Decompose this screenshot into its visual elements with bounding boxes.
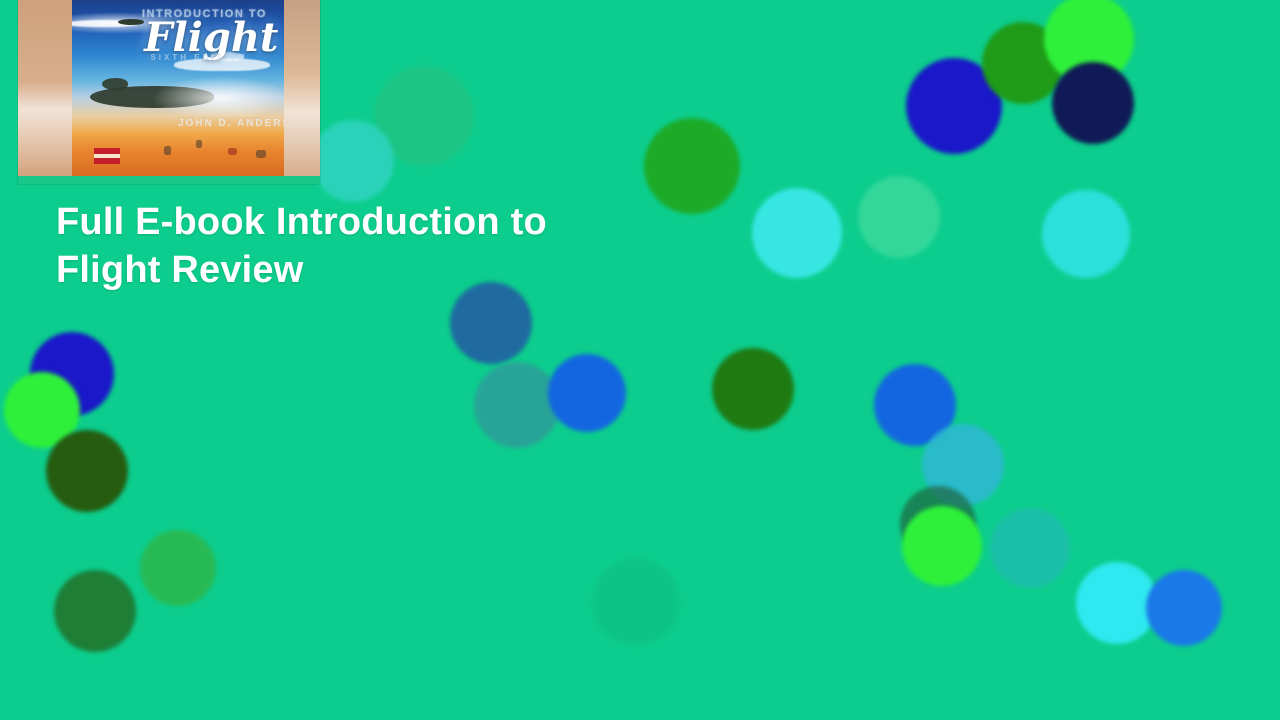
- jet-nose-icon: [118, 19, 144, 25]
- ground-speck: [228, 148, 237, 155]
- book-cover-edge: [284, 0, 320, 184]
- ground-speck: [164, 146, 171, 155]
- book-cover-image: INTRODUCTION TO Flight SIXTH EDITION JOH…: [18, 0, 320, 184]
- bokeh-circle-royal-blue-mid: [548, 354, 626, 432]
- book-cover-artwork: INTRODUCTION TO Flight SIXTH EDITION JOH…: [72, 0, 284, 176]
- book-cover-spine: [18, 0, 72, 184]
- bokeh-circle-teal-muted-mid: [474, 362, 560, 448]
- bokeh-circle-dark-green-mid: [712, 348, 794, 430]
- flag-stripe-icon: [94, 154, 120, 158]
- book-cover-bottom-strip: [18, 176, 320, 184]
- bokeh-circle-green-low-left: [140, 530, 216, 606]
- bokeh-circle-blue-bottom-right: [1146, 570, 1222, 646]
- video-title-text: Full E-book Introduction to Flight Revie…: [56, 198, 756, 294]
- bokeh-circle-steel-blue-mid: [450, 282, 532, 364]
- thumbnail-canvas: INTRODUCTION TO Flight SIXTH EDITION JOH…: [0, 0, 1280, 720]
- bokeh-circle-mint-upper: [858, 176, 940, 258]
- bokeh-circle-navy-dark-top: [1052, 62, 1134, 144]
- bokeh-circle-cyan-upper: [752, 188, 842, 278]
- book-author: JOHN D. ANDERSON, JR.: [178, 118, 284, 129]
- book-edition: SIXTH EDITION: [150, 53, 247, 62]
- bokeh-circle-teal-soft-right: [990, 508, 1070, 588]
- ground-speck: [256, 150, 266, 158]
- bokeh-circle-spring-green-right: [902, 506, 982, 586]
- bokeh-circle-faint-center-low: [592, 558, 680, 646]
- warplane-glow-icon: [152, 76, 284, 120]
- bokeh-circle-teal-behind-cover: [312, 120, 394, 202]
- bokeh-circle-cyan-right: [1042, 190, 1130, 278]
- bokeh-circle-dark-green-low-left: [54, 570, 136, 652]
- warplane-cockpit-icon: [102, 78, 128, 90]
- bokeh-circle-olive-left: [46, 430, 128, 512]
- ground-speck: [196, 140, 202, 148]
